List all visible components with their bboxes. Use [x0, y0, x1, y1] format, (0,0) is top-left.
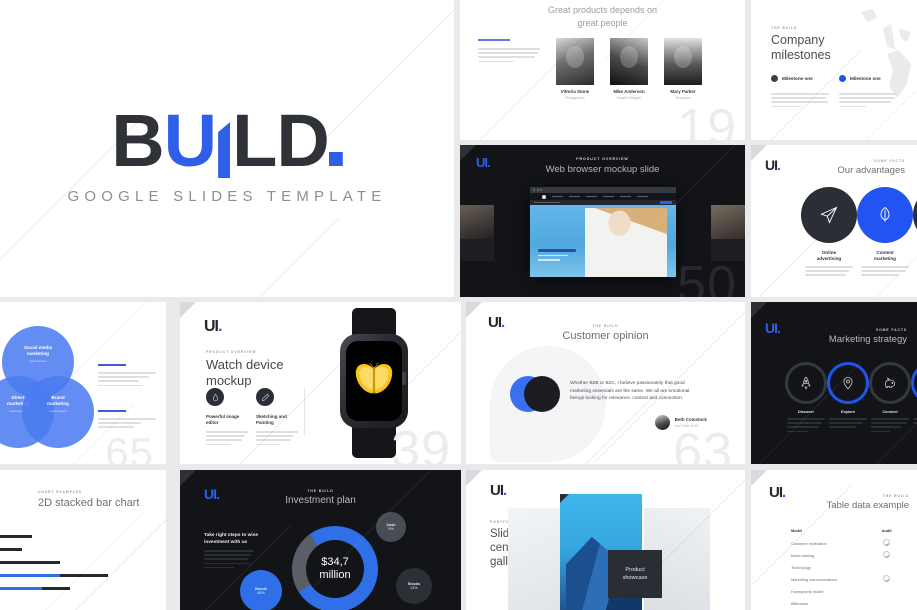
check-icon	[883, 539, 890, 546]
brush-icon	[256, 388, 274, 406]
watch-screen	[346, 341, 402, 421]
ui-logo: UI.	[204, 318, 221, 336]
slide-our-advantages[interactable]: UI. SOME FACTS Our advantages Onlineadve…	[751, 145, 917, 297]
advantage-circle[interactable]	[857, 187, 913, 243]
donut-center-value: $34,7 million	[306, 540, 364, 598]
milestone-body	[771, 93, 829, 107]
corner-fold-icon	[751, 302, 767, 318]
table-header-row: Model Audit Flexible	[791, 524, 917, 537]
accent-rule	[98, 410, 126, 412]
advantage-label: Contentmarketing	[855, 250, 915, 279]
ui-logo: UI.	[765, 320, 780, 336]
ui-logo: UI.	[476, 155, 490, 170]
corner-fold-icon	[560, 494, 569, 503]
check-icon	[883, 575, 890, 582]
model-photo	[585, 208, 667, 277]
ui-logo: UI.	[769, 484, 785, 501]
strategy-ring[interactable]	[911, 362, 917, 404]
ui-logo: UI.	[490, 482, 506, 499]
slide-company-milestones[interactable]: THE BUILD Company milestones Milestone o…	[751, 0, 917, 140]
brand-letter-b: B	[111, 99, 163, 182]
corner-fold-icon	[180, 302, 196, 318]
corner-fold-icon	[466, 470, 482, 486]
milestone-item[interactable]: Milestone one	[771, 70, 829, 110]
logo-dot-icon	[542, 195, 546, 199]
chart-bar	[0, 569, 156, 582]
slide-web-browser-mockup[interactable]: UI. PRODUCT OVERVIEW Web browser mockup …	[460, 145, 745, 297]
page-number: 50	[677, 259, 737, 297]
venn-shape-dark	[524, 376, 560, 412]
donut-legend-bubble[interactable]: Bonds 66%	[240, 570, 282, 610]
list-item[interactable]: Mike Anderson Graphic Designer	[610, 38, 648, 100]
slide-table-data[interactable]: UI. THE BUILD Table data example Model A…	[751, 470, 917, 610]
table-row[interactable]: Marketing communications	[791, 573, 917, 585]
side-preview-card	[460, 205, 494, 261]
slide-customer-opinion[interactable]: UI. THE BUILD Customer opinion Whether B…	[466, 302, 745, 464]
browser-mockup	[530, 187, 676, 277]
accent-rule	[478, 39, 510, 41]
advantage-label: Onlineadvertising	[799, 250, 859, 279]
side-preview-card	[711, 205, 745, 261]
piggy-bank-icon	[883, 376, 897, 390]
paper-plane-icon	[819, 205, 839, 225]
slide-eyebrow: PRODUCT OVERVIEW	[206, 350, 256, 354]
advantage-circle[interactable]	[801, 187, 857, 243]
page-title: Our advantages	[837, 165, 905, 176]
page-number: 39	[391, 424, 451, 464]
page-title: Web browser mockup slide	[460, 164, 745, 175]
list-item[interactable]: Mary Parker Developer	[664, 38, 702, 100]
table-row[interactable]: Technology	[791, 561, 917, 573]
chart-bar	[0, 556, 156, 569]
page-title: Table data example	[827, 500, 909, 511]
hero-text	[538, 249, 576, 261]
build-logo: BULD	[0, 104, 454, 178]
venn-circle[interactable]: Brandmarketing Lorem ipsum	[22, 376, 94, 448]
avatar	[610, 38, 648, 85]
slide-eyebrow: PRODUCT OVERVIEW	[460, 157, 745, 161]
strategy-ring[interactable]	[827, 362, 869, 404]
slide-center-gallery[interactable]: UI. PORTFOLIO Slide with center aligned …	[466, 470, 745, 610]
venn-body-text	[98, 372, 156, 389]
chart-bar	[0, 543, 156, 556]
table-row[interactable]: Customer motivation	[791, 537, 917, 549]
data-table: Model Audit Flexible Customer motivation…	[791, 524, 917, 609]
page-number: 65	[105, 432, 154, 464]
team-headline: Great products depends on great people	[460, 4, 745, 30]
page-number: 19	[677, 102, 737, 140]
team-member-list: Vittoria Stone Photographer Mike Anderso…	[556, 38, 702, 100]
butterfly-icon	[353, 361, 395, 401]
slide-eyebrow: SOME FACTS	[876, 328, 907, 332]
donut-chart: $34,7 million	[292, 526, 378, 610]
corner-fold-icon	[751, 145, 767, 161]
ui-logo: UI.	[488, 314, 504, 331]
list-item[interactable]: Vittoria Stone Photographer	[556, 38, 594, 100]
avatar	[655, 415, 670, 430]
table-row[interactable]: Billboards	[791, 597, 917, 609]
leaf-icon	[875, 205, 895, 225]
table-row[interactable]: Honeycomb model	[791, 585, 917, 597]
slide-bar-chart[interactable]: CHART EXAMPLES 2D stacked bar chart	[0, 470, 166, 610]
investment-body	[204, 550, 254, 571]
hero-image	[530, 205, 676, 277]
watch-feature[interactable]: Sketching andPainting	[256, 388, 314, 448]
testimonial-quote: Whether B2B or B2C, I believe passionate…	[570, 380, 702, 403]
slide-title-build[interactable]: BULD GOOGLE SLIDES TEMPLATE	[0, 0, 454, 297]
stacked-bar-chart	[0, 530, 156, 595]
chart-bar	[0, 582, 156, 595]
accent-rule	[98, 364, 126, 366]
milestone-item[interactable]: Milestone one	[839, 70, 897, 110]
ui-logo: UI.	[204, 486, 219, 502]
page-title: Watch devicemockup	[206, 357, 296, 389]
page-title: Company milestones	[771, 33, 861, 63]
slide-marketing-strategy[interactable]: UI. SOME FACTS Marketing strategy Discov…	[751, 302, 917, 464]
slide-eyebrow: THE BUILD	[180, 489, 461, 493]
page-subtitle: GOOGLE SLIDES TEMPLATE	[0, 188, 454, 205]
page-title: Customer opinion	[466, 330, 745, 342]
map-pin-icon	[841, 376, 855, 390]
droplet-icon	[206, 388, 224, 406]
brand-letters-ld: LD	[232, 99, 329, 182]
slide-investment-plan[interactable]: UI. THE BUILD Investment plan Take right…	[180, 470, 461, 610]
avatar	[556, 38, 594, 85]
page-title: Marketing strategy	[829, 334, 907, 345]
donut-legend-bubble[interactable]: Stocks 24%	[396, 568, 432, 604]
strategy-label: Connect	[867, 410, 913, 435]
slide-eyebrow: THE BUILD	[883, 494, 909, 498]
watch-case	[340, 334, 408, 428]
brand-period	[329, 152, 343, 166]
page-number: 63	[673, 426, 733, 464]
page-title: 2D stacked bar chart	[38, 497, 140, 509]
slide-eyebrow: CHART EXAMPLES	[38, 490, 82, 494]
rocket-icon	[799, 376, 813, 390]
page-title: Investment plan	[180, 495, 461, 506]
brand-letter-i	[216, 122, 232, 178]
table-row[interactable]: Basic planing	[791, 549, 917, 561]
milestone-dot-icon	[839, 75, 846, 82]
strategy-label: Collect	[909, 410, 917, 426]
milestone-dot-icon	[771, 75, 778, 82]
strategy-label: Discover	[783, 410, 829, 435]
avatar	[664, 38, 702, 85]
decorative-diagonal	[200, 217, 340, 297]
product-showcase-card[interactable]: Product showcase	[608, 550, 662, 598]
brand-letter-u: U	[164, 99, 216, 182]
milestone-body	[839, 93, 897, 107]
corner-fold-icon	[460, 145, 476, 161]
strategy-ring[interactable]	[869, 362, 911, 404]
corner-fold-icon	[751, 470, 767, 486]
ui-logo: UI.	[765, 157, 780, 173]
slide-eyebrow: THE BUILD	[466, 324, 745, 328]
slides-gallery-grid: BULD GOOGLE SLIDES TEMPLATE Great produc…	[0, 0, 917, 610]
donut-legend-bubble[interactable]: Cash 9%	[376, 512, 406, 542]
slide-eyebrow: SOME FACTS	[874, 159, 905, 163]
strategy-label: Explore	[825, 410, 871, 431]
slide-watch-mockup[interactable]: UI. PRODUCT OVERVIEW Watch devicemockup …	[180, 302, 461, 464]
browser-nav	[530, 193, 676, 200]
strategy-ring[interactable]	[785, 362, 827, 404]
check-icon	[883, 551, 890, 558]
slide-team[interactable]: Great products depends on great people V…	[460, 0, 745, 140]
corner-fold-icon	[180, 470, 196, 486]
slide-venn-marketing[interactable]: Social mediamarketing Lorem ipsum Direct…	[0, 302, 166, 464]
slide-eyebrow: THE BUILD	[771, 26, 797, 30]
investment-lead: Take right steps to wiseinvestment with …	[204, 532, 260, 546]
chart-bar	[0, 530, 156, 543]
advantage-circle[interactable]	[913, 187, 917, 243]
team-body-text	[478, 48, 540, 65]
corner-fold-icon	[466, 302, 482, 318]
divider	[304, 388, 305, 436]
